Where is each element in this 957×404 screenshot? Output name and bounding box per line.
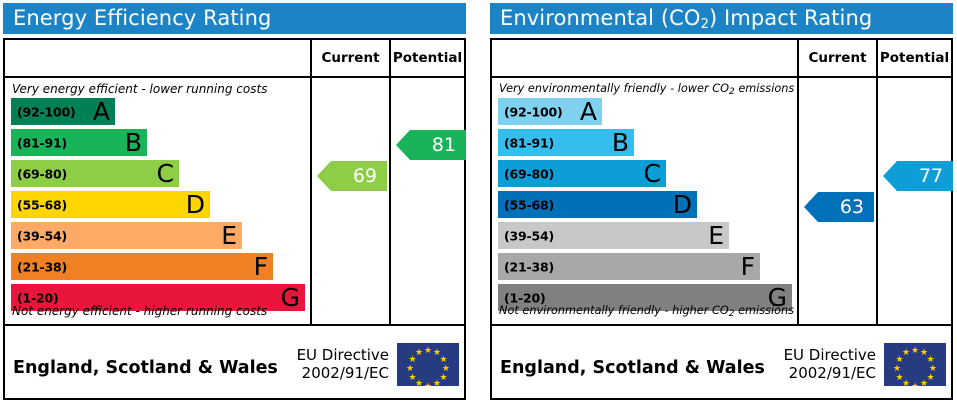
eu-star: ★ [895, 374, 904, 383]
top-caption-text-post: emissions [735, 82, 795, 95]
eu-star: ★ [424, 383, 433, 386]
column-header-potential: Potential [878, 40, 951, 76]
current-rating-value: 63 [840, 196, 864, 218]
band-range-e: (39-54) [504, 228, 554, 243]
environmental-impact-table: Current Potential Very environmentally f… [490, 38, 953, 400]
top-caption: Very energy efficient - lower running co… [12, 82, 267, 96]
eu-star: ★ [911, 383, 920, 386]
band-letter-c: C [157, 161, 174, 186]
column-divider-potential [389, 40, 391, 326]
band-range-c: (69-80) [17, 166, 67, 181]
eu-star: ★ [893, 365, 902, 374]
band-range-e: (39-54) [17, 228, 67, 243]
current-rating-arrow: 69 [317, 161, 387, 191]
current-rating-arrow: 63 [804, 192, 874, 222]
eu-star: ★ [902, 349, 911, 358]
band-letter-d: D [673, 192, 692, 217]
potential-rating-value: 77 [919, 165, 943, 187]
bottom-caption-text-post: emissions [735, 304, 795, 317]
eu-flag-icon: ★ ★ ★ ★ ★ ★ ★ ★ ★ ★ ★ ★ [884, 343, 946, 386]
band-letter-g: G [281, 285, 300, 310]
footer-eu-directive: EU Directive 2002/91/EC [770, 346, 876, 382]
column-header-current: Current [799, 40, 876, 76]
eu-directive-line1: EU Directive [770, 346, 876, 364]
band-letter-e: E [708, 223, 724, 248]
eu-flag-icon: ★ ★ ★ ★ ★ ★ ★ ★ ★ ★ ★ ★ [397, 343, 459, 386]
environmental-impact-panel-title: Environmental (CO2) Impact Rating [490, 3, 953, 34]
potential-rating-value: 81 [432, 134, 456, 156]
top-caption: Very environmentally friendly - lower CO… [499, 82, 794, 95]
bottom-caption-text: Not energy efficient - higher running co… [12, 304, 267, 318]
band-letter-b: B [125, 130, 142, 155]
bottom-caption: Not energy efficient - higher running co… [12, 304, 267, 318]
band-range-b: (81-91) [504, 135, 554, 150]
rating-band-e: (39-54) E [498, 222, 729, 249]
column-divider-current [310, 40, 312, 326]
band-letter-f: F [254, 254, 268, 279]
rating-band-d: (55-68) D [11, 191, 210, 218]
energy-efficiency-table: Current Potential Very energy efficient … [3, 38, 466, 400]
eu-star: ★ [424, 347, 433, 356]
bottom-caption: Not environmentally friendly - higher CO… [499, 304, 794, 317]
rating-band-d: (55-68) D [498, 191, 697, 218]
footer-region-label: England, Scotland & Wales [13, 358, 278, 378]
rating-band-c: (69-80) C [11, 160, 179, 187]
top-caption-text: Very energy efficient - lower running co… [12, 82, 267, 96]
column-divider-current [797, 40, 799, 326]
band-range-b: (81-91) [17, 135, 67, 150]
bottom-caption-text-pre: Not environmentally friendly - higher CO [499, 304, 729, 317]
band-letter-a: A [93, 99, 110, 124]
column-divider-potential [876, 40, 878, 326]
footer-row-divider [5, 324, 464, 326]
eu-star: ★ [406, 365, 415, 374]
rating-band-b: (81-91) B [11, 129, 147, 156]
column-header-current: Current [312, 40, 389, 76]
rating-band-c: (69-80) C [498, 160, 666, 187]
band-letter-a: A [580, 99, 597, 124]
eu-directive-line1: EU Directive [283, 346, 389, 364]
band-range-a: (92-100) [504, 104, 563, 119]
rating-band-f: (21-38) F [11, 253, 273, 280]
band-letter-d: D [186, 192, 205, 217]
band-letter-e: E [221, 223, 237, 248]
band-range-g: (1-20) [17, 290, 59, 305]
band-range-f: (21-38) [17, 259, 67, 274]
band-range-a: (92-100) [17, 104, 76, 119]
header-row-divider [492, 76, 951, 78]
eu-directive-line2: 2002/91/EC [283, 364, 389, 382]
eu-star: ★ [911, 347, 920, 356]
rating-bands-group: (92-100) A (81-91) B (69-80) C (55-68) D… [492, 98, 797, 314]
band-range-d: (55-68) [504, 197, 554, 212]
band-range-c: (69-80) [504, 166, 554, 181]
band-range-f: (21-38) [504, 259, 554, 274]
footer-row-divider [492, 324, 951, 326]
footer-region-label: England, Scotland & Wales [500, 358, 765, 378]
panel-title-subscript: 2 [701, 17, 709, 32]
eu-star: ★ [415, 349, 424, 358]
panel-title-text-pre: Environmental (CO [500, 6, 701, 30]
potential-rating-arrow: 77 [883, 161, 953, 191]
band-letter-c: C [644, 161, 661, 186]
footer-eu-directive: EU Directive 2002/91/EC [283, 346, 389, 382]
panel-title-text-pre: Energy Efficiency Rating [13, 6, 271, 30]
panel-title-text-post: ) Impact Rating [709, 6, 872, 30]
eu-star: ★ [408, 374, 417, 383]
rating-band-e: (39-54) E [11, 222, 242, 249]
band-range-g: (1-20) [504, 290, 546, 305]
top-caption-text-pre: Very environmentally friendly - lower CO [499, 82, 729, 95]
eu-directive-line2: 2002/91/EC [770, 364, 876, 382]
eu-star: ★ [433, 380, 442, 386]
energy-efficiency-panel-title: Energy Efficiency Rating [3, 3, 466, 34]
rating-band-f: (21-38) F [498, 253, 760, 280]
column-header-potential: Potential [391, 40, 464, 76]
rating-band-a: (92-100) A [11, 98, 115, 125]
bottom-caption-subscript: 2 [729, 309, 735, 319]
band-range-d: (55-68) [17, 197, 67, 212]
current-rating-value: 69 [353, 165, 377, 187]
header-row-divider [5, 76, 464, 78]
environmental-impact-rating-panel: Environmental (CO2) Impact Rating Curren… [487, 0, 956, 404]
energy-efficiency-rating-panel: Energy Efficiency Rating Current Potenti… [0, 0, 469, 404]
epc-charts-container: Energy Efficiency Rating Current Potenti… [0, 0, 957, 404]
rating-band-b: (81-91) B [498, 129, 634, 156]
eu-star: ★ [920, 380, 929, 386]
rating-band-a: (92-100) A [498, 98, 602, 125]
top-caption-subscript: 2 [729, 87, 735, 97]
band-letter-b: B [612, 130, 629, 155]
rating-bands-group: (92-100) A (81-91) B (69-80) C (55-68) D… [5, 98, 310, 314]
band-letter-f: F [741, 254, 755, 279]
potential-rating-arrow: 81 [396, 130, 466, 160]
